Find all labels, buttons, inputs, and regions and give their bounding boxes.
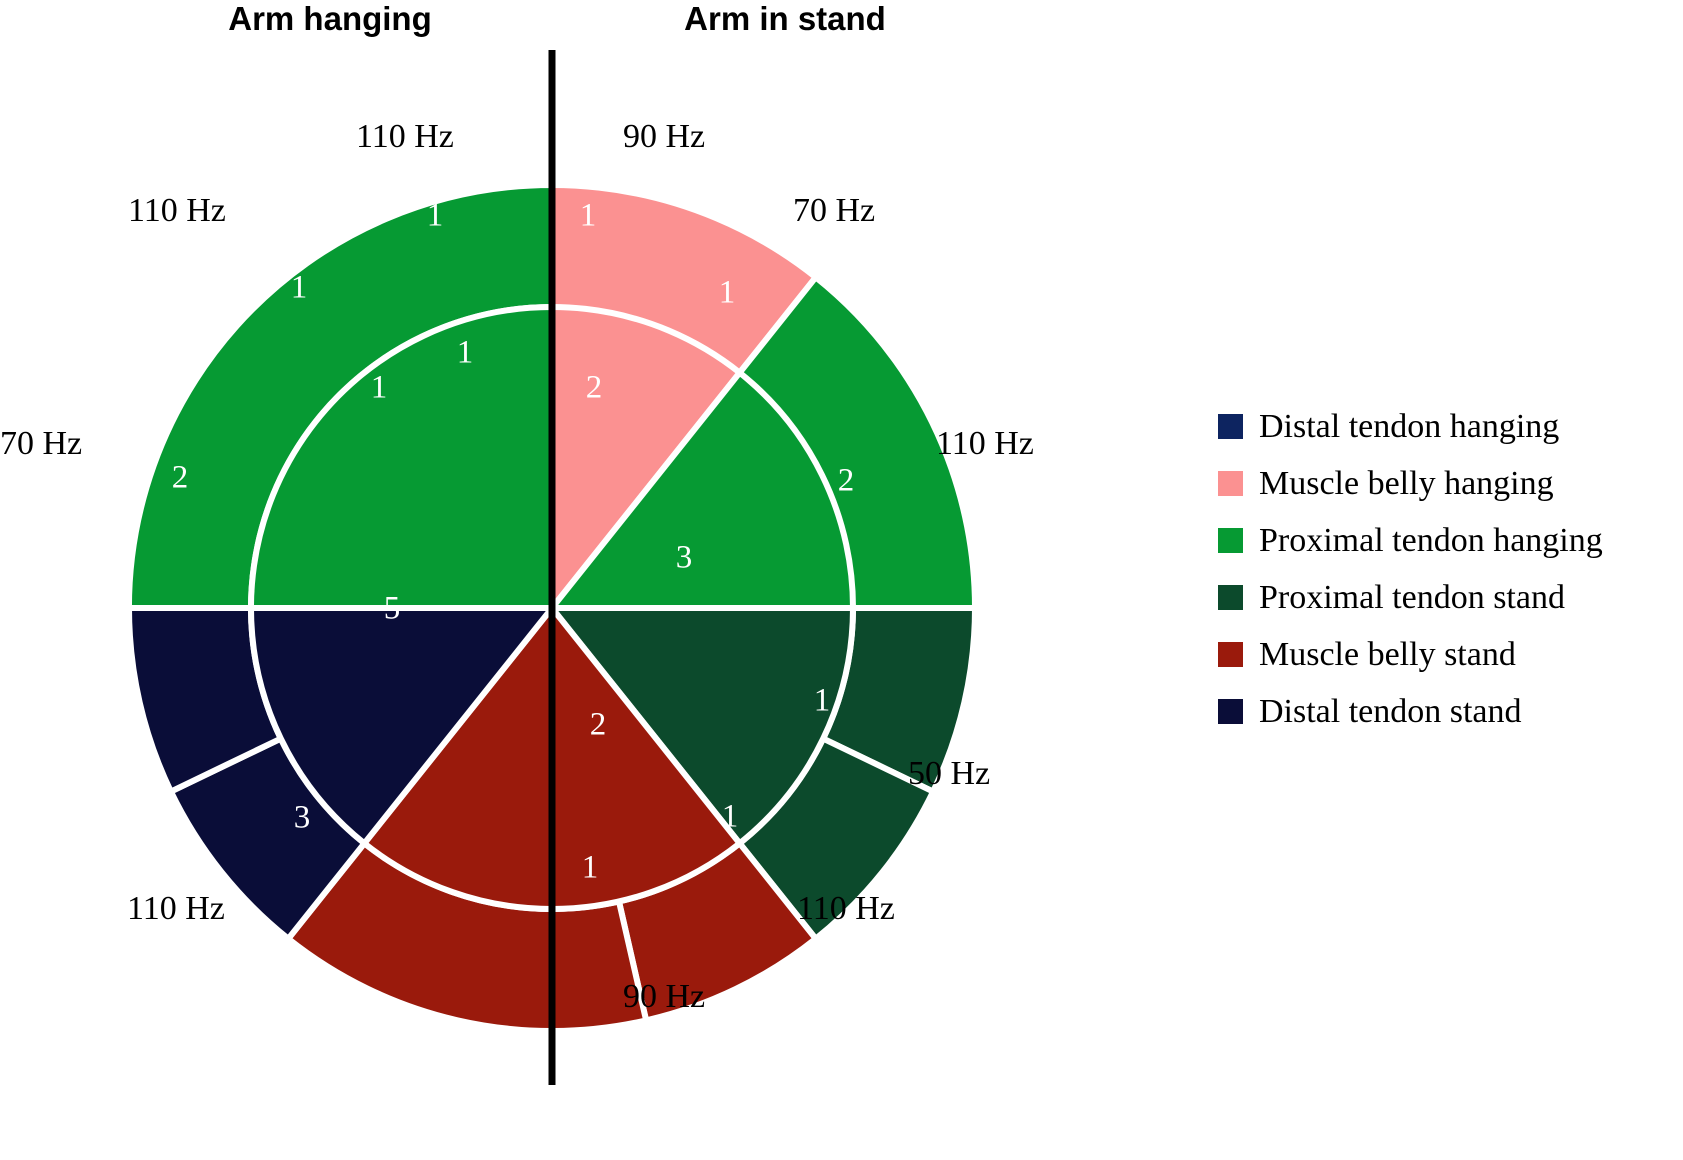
nested-pie-chart: 1123115112231211 (0, 0, 1100, 1160)
frequency-label-hz-upper-left: 110 Hz (128, 192, 226, 230)
frequency-label-hz-mid-left: 70 Hz (0, 425, 82, 463)
segment-value-val-inner-distal-stand: 2 (586, 370, 603, 406)
frequency-label-hz-bottom-center: 90 Hz (623, 978, 705, 1016)
legend: Distal tendon hangingMuscle belly hangin… (1218, 398, 1603, 740)
frequency-label-hz-lower-right: 50 Hz (908, 755, 990, 793)
legend-swatch-icon-4 (1218, 642, 1243, 667)
legend-swatch-icon-0 (1218, 414, 1243, 439)
segment-value-val-inner-muscle-hanging: 1 (371, 370, 388, 406)
segment-value-val-inner-proximal-stand: 2 (590, 707, 607, 743)
legend-item-1[interactable]: Muscle belly hanging (1218, 455, 1603, 512)
segment-value-val-outer-proximal-h3: 3 (294, 800, 311, 836)
legend-label-2: Proximal tendon hanging (1259, 524, 1603, 558)
segment-value-val-inner-proximal-h: 5 (384, 591, 401, 627)
legend-item-3[interactable]: Proximal tendon stand (1218, 569, 1603, 626)
segment-value-val-outer-distal-s-70: 1 (719, 275, 736, 311)
frequency-label-hz-bottom-right: 110 Hz (797, 890, 895, 928)
frequency-label-hz-top-right: 90 Hz (623, 118, 705, 156)
legend-item-2[interactable]: Proximal tendon hanging (1218, 512, 1603, 569)
legend-item-4[interactable]: Muscle belly stand (1218, 626, 1603, 683)
frequency-label-hz-upper-right: 70 Hz (793, 192, 875, 230)
legend-label-1: Muscle belly hanging (1259, 467, 1554, 501)
frequency-label-hz-lower-left: 110 Hz (127, 890, 225, 928)
segment-value-val-outer-muscle-hanging: 1 (291, 270, 308, 306)
legend-item-0[interactable]: Distal tendon hanging (1218, 398, 1603, 455)
segment-value-val-outer-muscle-s-110: 2 (838, 463, 855, 499)
segment-value-val-outer-proximal-h2: 2 (172, 460, 189, 496)
legend-swatch-icon-5 (1218, 699, 1243, 724)
legend-label-4: Muscle belly stand (1259, 638, 1516, 672)
legend-swatch-icon-2 (1218, 528, 1243, 553)
segment-value-val-outer-proximal-s-110: 1 (722, 799, 739, 835)
segment-value-val-inner-muscle-stand: 3 (676, 540, 693, 576)
segment-value-val-outer-distal-s-90: 1 (580, 198, 597, 234)
segment-value-val-outer-proximal-s-90: 1 (582, 850, 599, 886)
segment-value-val-inner-distal-hanging: 1 (457, 335, 474, 371)
legend-label-5: Distal tendon stand (1259, 695, 1522, 729)
frequency-label-hz-mid-right: 110 Hz (936, 425, 1034, 463)
segment-value-val-outer-distal-hanging: 1 (427, 198, 444, 234)
legend-label-0: Distal tendon hanging (1259, 410, 1559, 444)
legend-item-5[interactable]: Distal tendon stand (1218, 683, 1603, 740)
legend-label-3: Proximal tendon stand (1259, 581, 1565, 615)
legend-swatch-icon-1 (1218, 471, 1243, 496)
legend-swatch-icon-3 (1218, 585, 1243, 610)
frequency-label-hz-top-left: 110 Hz (356, 118, 454, 156)
segment-value-val-outer-muscle-s-50: 1 (814, 683, 831, 719)
